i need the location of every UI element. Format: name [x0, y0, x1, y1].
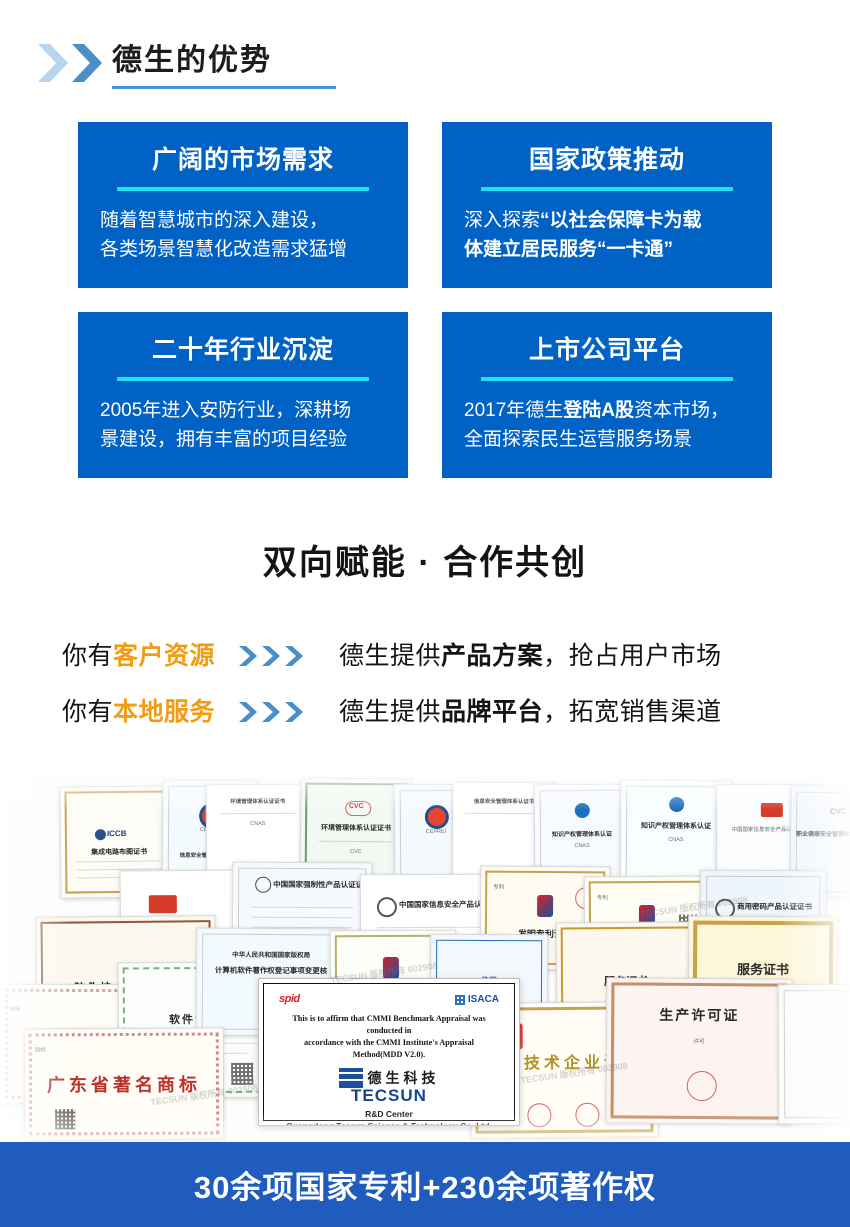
certificate-badge-icon	[95, 829, 106, 840]
tecsun-brand-cn: 德生科技	[368, 1068, 440, 1088]
value-row-left: 你有客户资源	[62, 639, 215, 673]
card-body-line-2: 全面探索民生运营服务场景	[464, 425, 750, 454]
card-body-line-2: 体建立居民服务“一卡通”	[464, 235, 750, 264]
certificate-title: 环境管理体系认证证书	[207, 797, 309, 806]
chevron-right-dark-icon	[70, 42, 104, 84]
tecsun-brand-en: TECSUN	[277, 1086, 501, 1106]
footer-text: 30余项国家专利+230余项著作权	[194, 1162, 656, 1207]
certificate-rule	[219, 813, 297, 814]
card-title: 国家政策推动	[529, 144, 685, 176]
certificate-collage: ICCB 集成电路布图证书 CEPREI 信息安全管理体系认证书 环境管理体系认…	[0, 770, 850, 1142]
spid-logo: spid	[279, 993, 300, 1005]
card-body-text-a: 2017年德生	[464, 400, 563, 421]
certificate-emblem-icon	[383, 957, 399, 979]
certificate-subtitle: CNAS	[535, 843, 629, 850]
value-proposition-rows: 你有客户资源 德生提供产品方案，抢占用户市场 你有本地服务 德生提供品牌平台，拓…	[0, 628, 850, 740]
card-body-line-2: 景建设，拥有丰富的项目经验	[100, 425, 386, 454]
card-body-line-1: 深入探索“以社会保障卡为载	[464, 206, 750, 235]
cmmi-rd-center: R&D Center	[277, 1109, 501, 1119]
advantage-card-twenty-years: 二十年行业沉淀 2005年进入安防行业，深耕场 景建设，拥有丰富的项目经验	[78, 312, 408, 478]
value-row-left-highlight: 本地服务	[113, 698, 215, 726]
tecsun-brand-lockup: 德生科技	[277, 1068, 501, 1088]
cmmi-company-name: Guangdong Tecsun Science & Technology Co…	[277, 1121, 501, 1126]
advantage-card-listed-company: 上市公司平台 2017年德生登陆A股资本市场， 全面探索民生运营服务场景	[442, 312, 772, 478]
value-row-left-prefix: 你有	[62, 642, 113, 670]
certificate-title: 广东省著名商标	[25, 1070, 223, 1097]
card-body: 深入探索“以社会保障卡为载 体建立居民服务“一卡通”	[462, 206, 752, 264]
certificate-rule	[377, 927, 489, 928]
value-row-left-prefix: 你有	[62, 698, 113, 726]
section-header: 德生的优势	[0, 0, 850, 110]
certificate-title: 商用密码产品认证证书	[737, 901, 825, 912]
chevron-right-light-icon	[36, 42, 70, 84]
value-row-customer-resources: 你有客户资源 德生提供产品方案，抢占用户市场	[0, 628, 850, 684]
certificate-frame	[784, 990, 850, 1119]
card-body-line-2: 各类场景智慧化改造需求猛增	[100, 235, 386, 264]
certificate-subtitle: 计算机软件著作权登记事项变更核	[197, 964, 345, 976]
card-body: 2017年德生登陆A股资本市场， 全面探索民生运营服务场景	[462, 396, 752, 454]
value-row-right: 德生提供品牌平台，拓宽销售渠道	[339, 695, 722, 729]
isaca-glyph-icon	[455, 995, 465, 1005]
value-row-right-highlight: 产品方案	[441, 642, 543, 670]
certificate-title: 服务证书	[689, 959, 837, 979]
card-body-line-1: 2005年进入安防行业，深耕场	[100, 396, 386, 425]
certificate-serial: 专利	[597, 893, 713, 902]
certificate-subtitle: 许可	[607, 1036, 791, 1045]
certificate-badge-icon	[575, 803, 590, 818]
card-body-text-bold: “以社会保障卡为载	[540, 210, 702, 231]
card-body-text-tail: “一卡通”	[597, 239, 673, 260]
card-body: 2005年进入安防行业，深耕场 景建设，拥有丰富的项目经验	[98, 396, 388, 454]
certificate-badge-icon	[377, 897, 397, 917]
certificate-title: 知识产权管理体系认证	[621, 821, 731, 832]
card-body-line-1: 随着智慧城市的深入建设，	[100, 206, 386, 235]
certificate-item	[778, 984, 850, 1125]
card-body-text-plain: 深入探索	[464, 210, 540, 231]
certificate-subtitle: CNAS	[621, 837, 731, 844]
certificate-seal-icon	[527, 1103, 551, 1127]
value-row-right-prefix: 德生提供	[339, 642, 441, 670]
certificate-qr-icon	[55, 1109, 75, 1129]
cmmi-body: spid ISACA This is to affirm that CMMI B…	[267, 985, 511, 1126]
value-row-right-suffix: ，抢占用户市场	[543, 642, 722, 670]
cmmi-affirm-line-2: accordance with the CMMI Institute's App…	[277, 1037, 501, 1061]
footer-banner: 30余项国家专利+230余项著作权	[0, 1142, 850, 1227]
card-body-text-b: 资本市场，	[634, 400, 729, 421]
certificate-item: 生产许可证 许可	[605, 977, 792, 1124]
isaca-logo: ISACA	[455, 994, 499, 1005]
certificate-title: 中华人民共和国国家版权局	[197, 948, 345, 959]
page-title-underline	[112, 86, 336, 89]
certificate-badge-icon	[425, 805, 449, 829]
certificate-rule	[465, 813, 543, 814]
certificate-title: 集成电路布图证书	[61, 846, 177, 857]
tecsun-logo-icon	[339, 1068, 363, 1088]
value-row-right-prefix: 德生提供	[339, 698, 441, 726]
value-row-left-highlight: 客户资源	[113, 642, 215, 670]
card-body-line-1: 2017年德生登陆A股资本市场，	[464, 396, 750, 425]
value-row-right-suffix: ，拓宽销售渠道	[543, 698, 722, 726]
value-row-right: 德生提供产品方案，抢占用户市场	[339, 639, 722, 673]
isaca-label: ISACA	[468, 994, 499, 1005]
certificate-badge-label: CVC	[791, 807, 850, 817]
value-row-right-highlight: 品牌平台	[441, 698, 543, 726]
advantage-card-national-policy: 国家政策推动 深入探索“以社会保障卡为载 体建立居民服务“一卡通”	[442, 122, 772, 288]
card-divider	[117, 377, 369, 381]
cmmi-affirm-line-1: This is to affirm that CMMI Benchmark Ap…	[277, 1013, 501, 1037]
certificate-qr-icon	[231, 1063, 253, 1085]
certificate-item: 商标 广东省著名商标	[24, 1027, 225, 1140]
certificate-serial: 商标	[35, 1044, 223, 1053]
certificate-title: 生产许可证	[607, 1004, 791, 1025]
card-divider	[481, 377, 733, 381]
value-row-left: 你有本地服务	[62, 695, 215, 729]
card-title: 广阔的市场需求	[152, 144, 334, 176]
page-title: 德生的优势	[112, 41, 272, 81]
chevron-group-icon	[36, 42, 110, 84]
arrows-right-icon	[237, 699, 313, 725]
certificate-emblem-icon	[537, 895, 553, 917]
certificate-badge-label: CNAS	[207, 821, 309, 828]
value-row-local-service: 你有本地服务 德生提供品牌平台，拓宽销售渠道	[0, 684, 850, 740]
certificate-badge-icon	[255, 877, 271, 893]
card-body-text-bold: 登陆A股	[563, 400, 634, 421]
certificate-title: 知识产权管理体系认证	[535, 829, 629, 839]
card-title: 上市公司平台	[529, 334, 685, 366]
arrows-right-icon	[237, 643, 313, 669]
mid-section-heading: 双向赋能 · 合作共创	[0, 540, 850, 586]
card-body: 随着智慧城市的深入建设， 各类场景智慧化改造需求猛增	[98, 206, 388, 264]
card-divider	[117, 187, 369, 191]
certificate-title: 职业健康安全管理体系认证证书	[791, 829, 850, 839]
certificate-seal-icon	[575, 1103, 599, 1127]
certificate-badge-icon	[149, 895, 177, 913]
card-divider	[481, 187, 733, 191]
certificate-seal-icon	[687, 1071, 717, 1101]
cmmi-certificate: spid ISACA This is to affirm that CMMI B…	[258, 978, 520, 1126]
certificate-badge-icon	[669, 797, 684, 812]
certificate-badge-icon	[761, 803, 783, 817]
advantage-cards-grid: 广阔的市场需求 随着智慧城市的深入建设， 各类场景智慧化改造需求猛增 国家政策推…	[78, 122, 772, 478]
card-title: 二十年行业沉淀	[152, 334, 334, 366]
advantage-card-market-demand: 广阔的市场需求 随着智慧城市的深入建设， 各类场景智慧化改造需求猛增	[78, 122, 408, 288]
card-body-text-bold-2: 体建立居民服务	[464, 239, 597, 260]
certificate-title: 中国国家强制性产品认证证书	[273, 879, 371, 891]
